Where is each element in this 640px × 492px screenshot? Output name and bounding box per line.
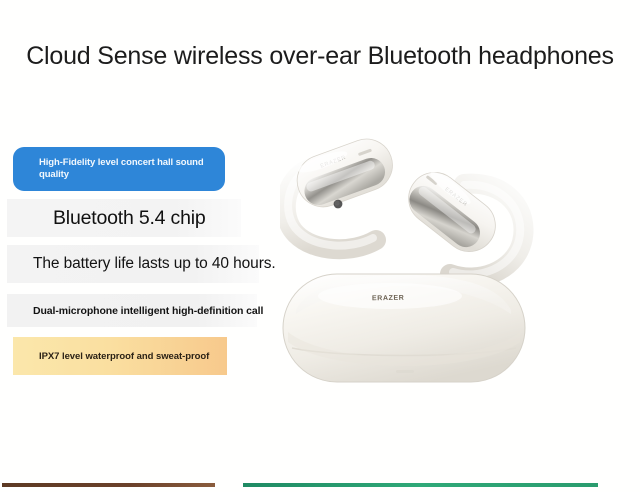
- feature-item-battery-life: The battery life lasts up to 40 hours.: [7, 245, 259, 283]
- feature-label-dual-microphone: Dual-microphone intelligent high-definit…: [33, 305, 263, 317]
- feature-label-waterproof: IPX7 level waterproof and sweat-proof: [39, 351, 209, 362]
- feature-item-dual-microphone: Dual-microphone intelligent high-definit…: [7, 294, 257, 327]
- feature-item-waterproof: IPX7 level waterproof and sweat-proof: [13, 337, 227, 375]
- feature-item-audio-quality: High-Fidelity level concert hall sound q…: [13, 147, 225, 191]
- charging-case: ERAZER: [280, 270, 528, 388]
- feature-item-bluetooth-chip: Bluetooth 5.4 chip: [7, 199, 241, 237]
- page-title: Cloud Sense wireless over-ear Bluetooth …: [0, 42, 640, 71]
- product-image-group: ERAZER: [262, 118, 632, 408]
- feature-label-bluetooth-chip: Bluetooth 5.4 chip: [53, 207, 206, 230]
- feature-label-audio-quality: High-Fidelity level concert hall sound q…: [39, 157, 225, 181]
- case-brand-label: ERAZER: [372, 295, 405, 303]
- footer-bar-right: [243, 483, 598, 487]
- feature-label-battery-life: The battery life lasts up to 40 hours.: [33, 255, 276, 273]
- footer-bar-left: [2, 483, 215, 487]
- product-page: Cloud Sense wireless over-ear Bluetooth …: [0, 0, 640, 492]
